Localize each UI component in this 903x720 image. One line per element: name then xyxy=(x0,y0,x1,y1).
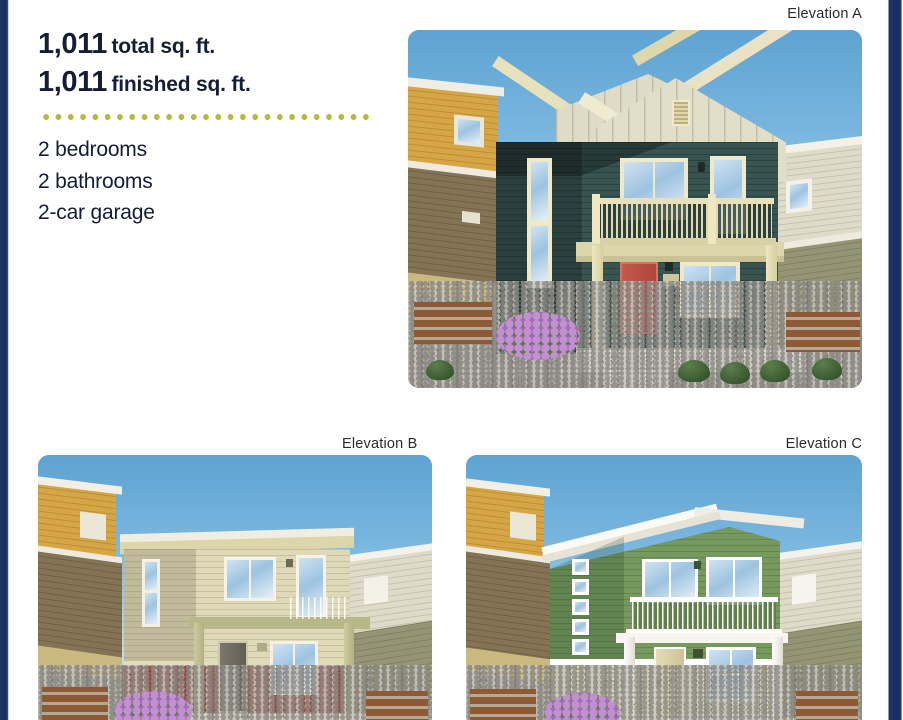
total-sqft-value: 1,011 xyxy=(38,28,107,60)
house-b-tall-window-glass xyxy=(145,562,157,590)
house-a-balcony-deck xyxy=(592,238,776,245)
house-c-deck-door-mullion xyxy=(733,560,735,602)
house-c-accent-glass-4 xyxy=(575,622,586,632)
house-b-upper-window-mullion xyxy=(249,560,251,598)
fence-right xyxy=(786,312,860,352)
caption-elevation-c: Elevation C xyxy=(786,436,862,452)
house-c-accent-glass-2 xyxy=(575,582,586,592)
fence-right xyxy=(366,691,428,720)
fence-left xyxy=(414,302,492,344)
house-a-balcony-post-left xyxy=(592,194,600,244)
neighbor-left-vent xyxy=(462,211,480,224)
total-sqft-line: 1,011 total sq. ft. xyxy=(38,26,388,64)
house-c-deck-balusters xyxy=(632,602,776,630)
shrub-4 xyxy=(812,358,842,380)
neighbor-left-window xyxy=(80,511,106,540)
shrub-1 xyxy=(678,360,710,382)
elevation-b-image[interactable] xyxy=(38,455,432,720)
shrub-3 xyxy=(760,360,790,382)
neighbor-right-window-glass xyxy=(790,183,808,209)
feature-bedrooms: 2 bedrooms xyxy=(38,134,388,165)
house-c-accent-glass-5 xyxy=(575,642,586,652)
finished-sqft-label: finished sq. ft. xyxy=(111,73,250,96)
house-c-accent-glass-3 xyxy=(575,602,586,612)
house-a-balcony-balusters xyxy=(596,204,772,240)
caption-elevation-b: Elevation B xyxy=(342,436,418,452)
shrub-5 xyxy=(426,360,454,380)
house-b-exterior-light xyxy=(286,559,293,567)
flower-bed-left xyxy=(496,312,580,360)
house-a-tall-window-glass-lower xyxy=(531,226,548,284)
dotted-divider xyxy=(40,114,372,120)
house-c-address-plaque xyxy=(693,649,703,658)
house-c-exterior-light xyxy=(694,561,701,569)
home-specifications: 1,011 total sq. ft. 1,011 finished sq. f… xyxy=(38,26,388,228)
finished-sqft-value: 1,011 xyxy=(38,66,107,98)
neighbor-right-window xyxy=(364,575,388,604)
neighbor-left-window xyxy=(510,511,536,540)
feature-garage: 2-car garage xyxy=(38,197,388,228)
neighbor-left-window-glass xyxy=(458,119,480,143)
house-b-porch-rail xyxy=(290,597,348,619)
elevation-a-image[interactable] xyxy=(408,30,862,388)
page-border-right xyxy=(885,0,903,720)
house-a-gable-vent xyxy=(672,100,690,126)
fence-left xyxy=(42,687,108,720)
house-c-accent-glass-1 xyxy=(575,562,586,572)
house-c-deck-soffit xyxy=(616,633,788,643)
house-a-balcony-post-right xyxy=(708,194,716,244)
fence-right xyxy=(796,691,858,720)
house-a-entry-light xyxy=(665,262,673,271)
total-sqft-label: total sq. ft. xyxy=(111,35,215,58)
finished-sqft-line: 1,011 finished sq. ft. xyxy=(38,64,388,102)
neighbor-right-window xyxy=(792,573,816,604)
house-c-upper-window-mullion xyxy=(669,562,671,600)
elevation-c-image[interactable] xyxy=(466,455,862,720)
house-a-porch-light xyxy=(698,162,705,172)
caption-elevation-a: Elevation A xyxy=(787,6,862,22)
page-border-left xyxy=(0,0,9,720)
feature-bathrooms: 2 bathrooms xyxy=(38,166,388,197)
floorplan-summary-page: 1,011 total sq. ft. 1,011 finished sq. f… xyxy=(10,0,885,720)
shrub-2 xyxy=(720,362,750,384)
house-b-tall-window-glass-lower xyxy=(145,593,157,624)
fence-left xyxy=(470,689,536,720)
house-a-tall-window-glass xyxy=(531,162,548,220)
house-b-address-plaque xyxy=(257,643,267,651)
